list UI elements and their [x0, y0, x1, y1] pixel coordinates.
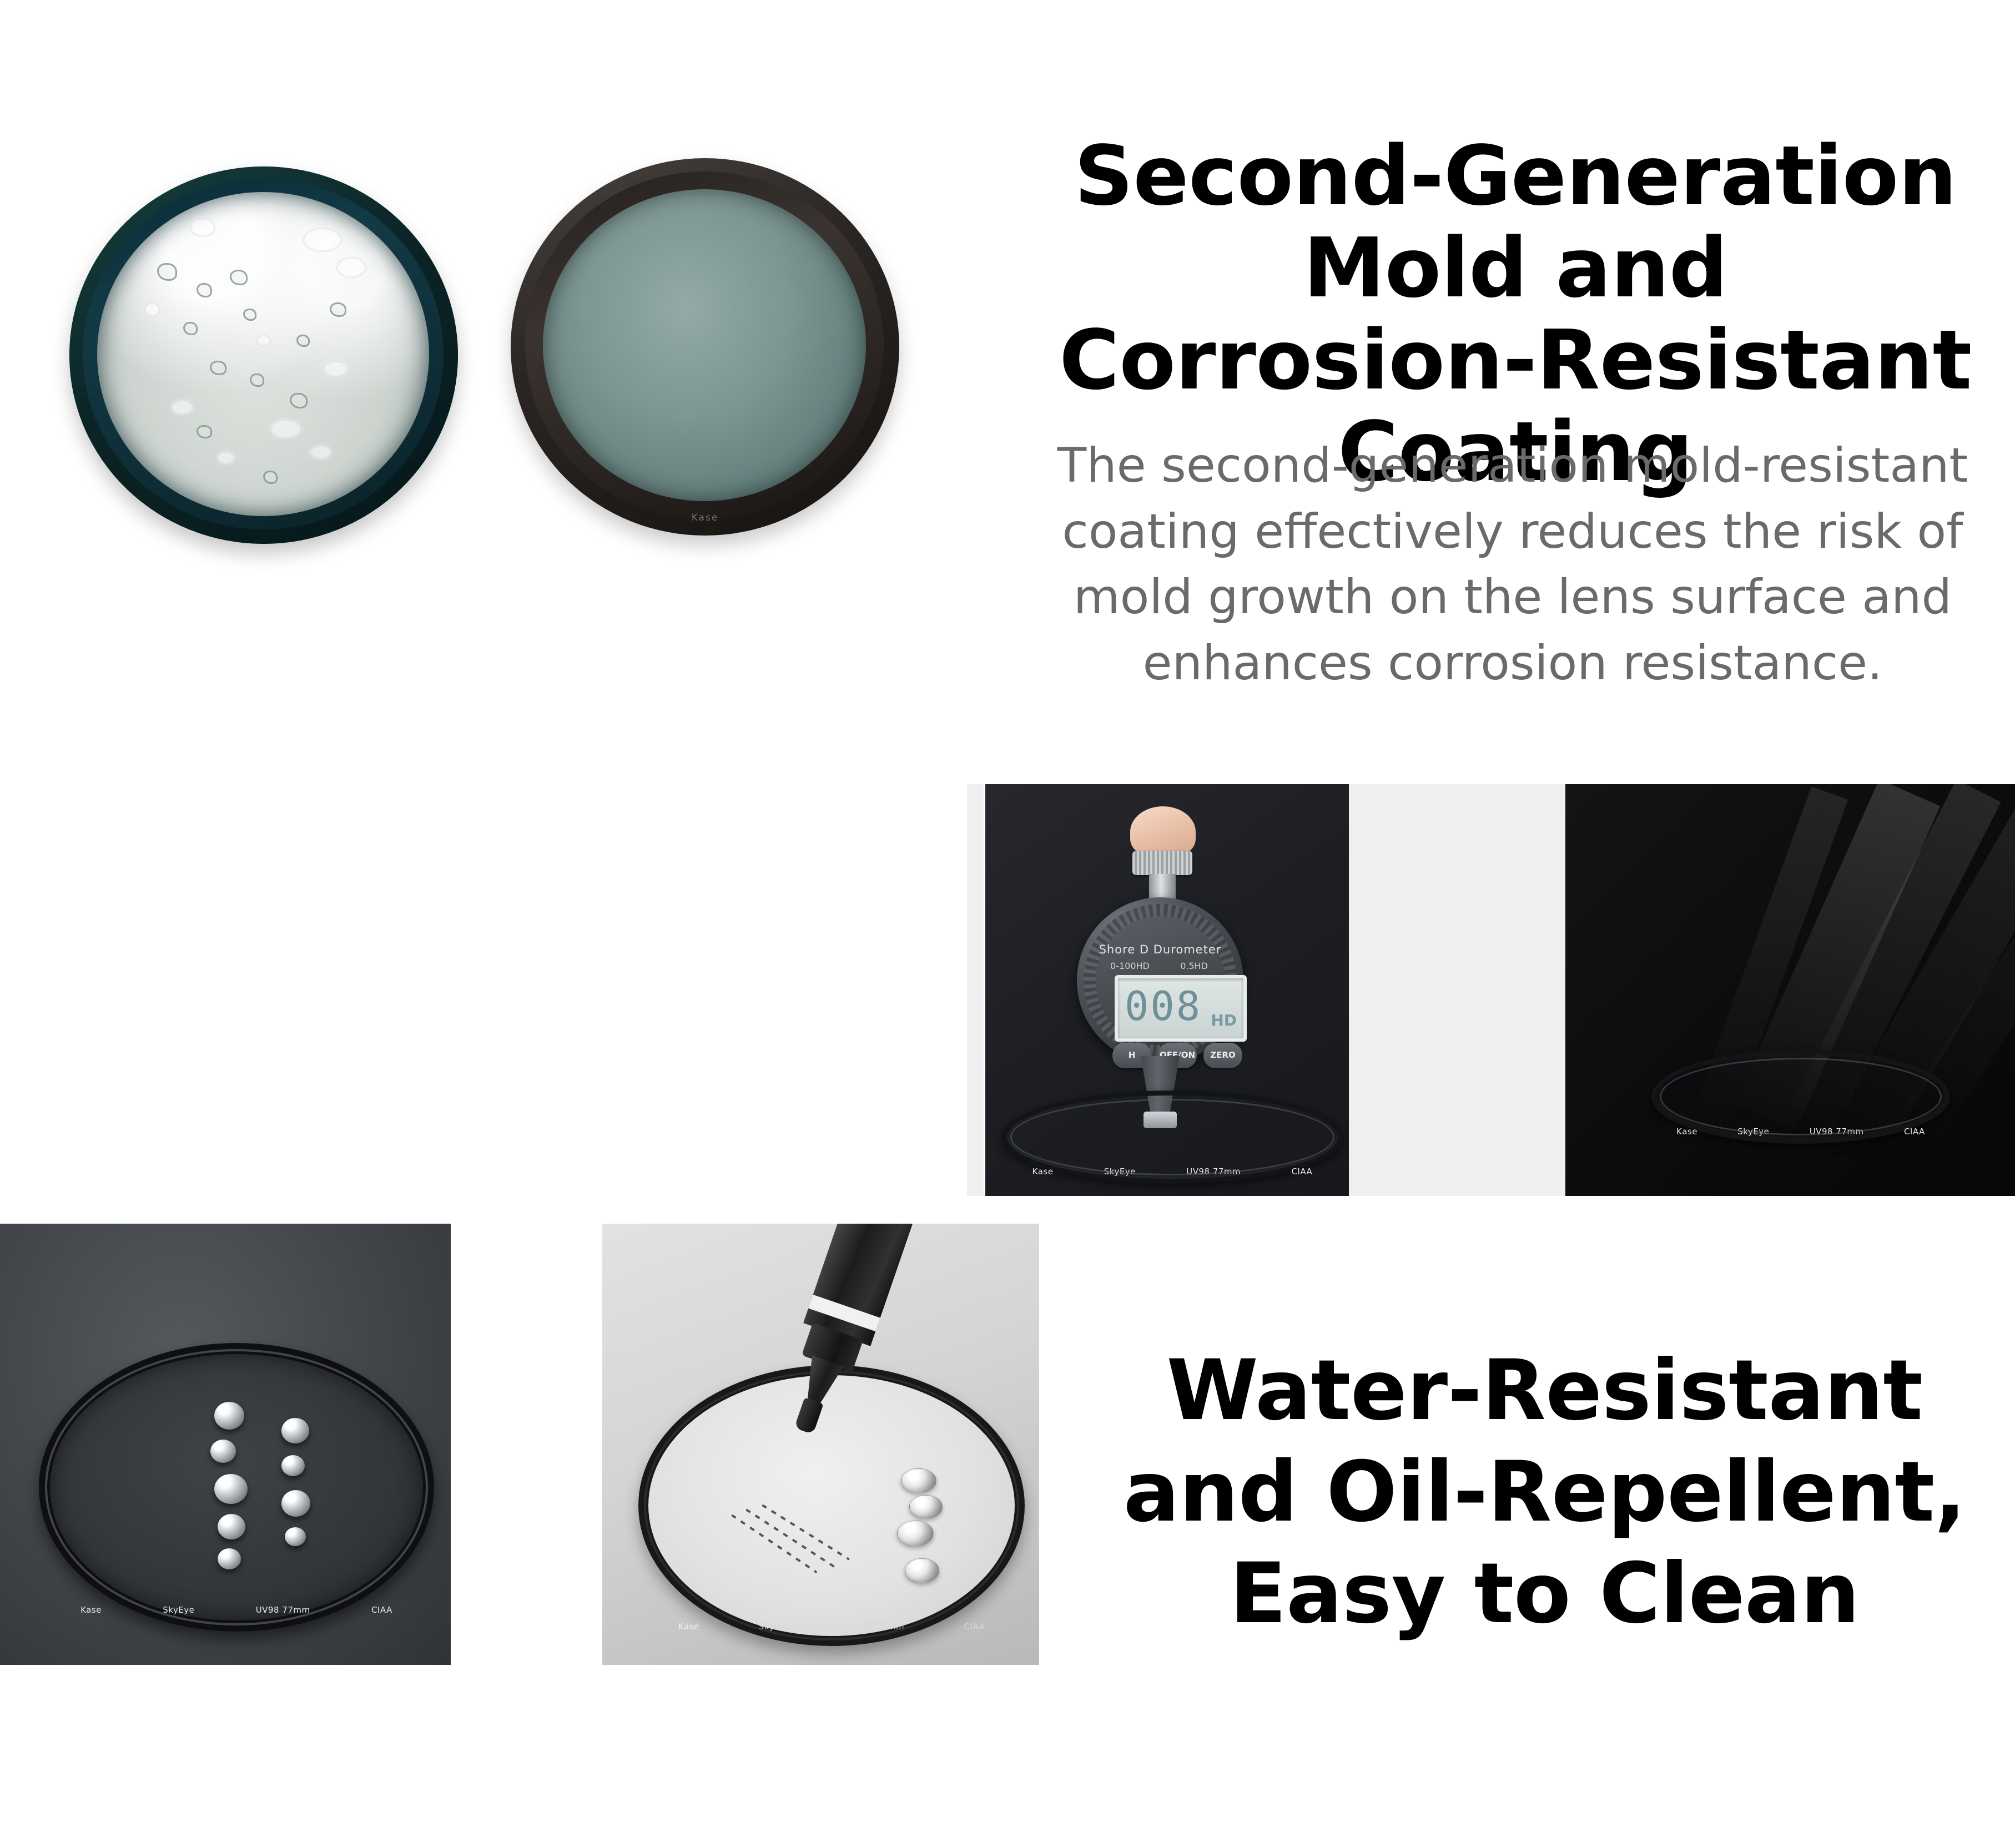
clean-glass-surface — [543, 189, 866, 501]
ink-droplet — [897, 1521, 934, 1546]
water-bead — [214, 1474, 248, 1504]
durometer-hardness-test: Shore D Durometer 0-100HD 0.5HD 008 HD H… — [985, 784, 1349, 1196]
gauge-body: Shore D Durometer 0-100HD 0.5HD 008 HD H… — [1077, 897, 1243, 1064]
water-bead — [218, 1548, 241, 1569]
moldy-filter-image — [69, 166, 458, 544]
ring-series: SkyEye — [163, 1605, 194, 1615]
filter-ring-under-test: Kase SkyEye UV98 77mm CIAA — [1002, 1090, 1343, 1184]
ink-droplet — [909, 1495, 943, 1518]
ring-series: SkyEye — [759, 1622, 790, 1632]
water-bead-test: Kase SkyEye UV98 77mm CIAA — [0, 1224, 451, 1665]
filter-ring-brand: Kase — [511, 512, 899, 523]
durometer-reading-value: 008 — [1125, 986, 1202, 1026]
ring-mark: CIAA — [964, 1622, 985, 1632]
ring-model: UV98 77mm — [850, 1622, 904, 1632]
gauge-face: Shore D Durometer 0-100HD 0.5HD 008 HD H… — [1096, 916, 1225, 1045]
mold-section-body: The second-generation mold-resistant coa… — [1044, 433, 1982, 696]
water-bead — [214, 1402, 244, 1430]
ink-droplet — [905, 1558, 939, 1583]
mold-comparison-photo: Kase — [33, 67, 999, 721]
ring-model: UV98 77mm — [1186, 1167, 1241, 1177]
ink-stroke — [731, 1514, 818, 1573]
ink-stroke — [762, 1504, 850, 1560]
filter-ring-under-beams: Kase SkyEye UV98 77mm CIAA — [1651, 1049, 1950, 1144]
ring-model: UV98 77mm — [256, 1605, 310, 1615]
filter-ring-engraving: Kase SkyEye UV98 77mm CIAA — [648, 1622, 1015, 1632]
ring-mark: CIAA — [371, 1605, 392, 1615]
shore-d-durometer: Shore D Durometer 0-100HD 0.5HD 008 HD H… — [1077, 835, 1243, 1124]
water-bead — [281, 1490, 310, 1517]
ring-brand: Kase — [80, 1605, 102, 1615]
ring-brand: Kase — [678, 1622, 699, 1632]
ring-mark: CIAA — [1904, 1127, 1925, 1137]
filter-ring-engraving: Kase SkyEye UV98 77mm CIAA — [50, 1605, 423, 1615]
durometer-lcd-display: 008 HD — [1115, 975, 1247, 1042]
water-bead — [210, 1440, 236, 1463]
clean-filter-image: Kase — [511, 158, 899, 536]
ring-series: SkyEye — [1104, 1167, 1136, 1177]
durometer-range-label: 0-100HD — [1110, 961, 1150, 971]
water-bead — [285, 1527, 306, 1546]
gauge-stem — [1149, 874, 1176, 901]
mold-growth-overlay — [97, 192, 429, 516]
water-bead — [218, 1514, 245, 1539]
water-bead — [281, 1418, 309, 1443]
marker-nib — [794, 1397, 824, 1435]
ring-mark: CIAA — [1291, 1167, 1312, 1177]
filter-with-water-beads: Kase SkyEye UV98 77mm CIAA — [39, 1343, 434, 1632]
reflection-beam-test: Kase SkyEye UV98 77mm CIAA — [1565, 784, 2015, 1196]
durometer-resolution-label: 0.5HD — [1180, 961, 1208, 971]
finger — [1130, 806, 1196, 857]
durometer-zero-button[interactable]: ZERO — [1203, 1043, 1242, 1068]
panel-left-margin-strip — [967, 784, 984, 1196]
ink-stroke — [745, 1508, 838, 1569]
filter-ring-engraving: Kase SkyEye UV98 77mm CIAA — [1007, 1167, 1338, 1177]
panel-divider-gap — [1349, 784, 1565, 1196]
ring-brand: Kase — [1676, 1127, 1697, 1137]
ring-brand: Kase — [1032, 1167, 1054, 1177]
ink-droplet — [901, 1468, 936, 1493]
ring-model: UV98 77mm — [1810, 1127, 1864, 1137]
knurled-cap — [1132, 851, 1192, 875]
ring-series: SkyEye — [1737, 1127, 1769, 1137]
durometer-reading-unit: HD — [1211, 1011, 1237, 1029]
filter-ring-engraving: Kase SkyEye UV98 77mm CIAA — [1656, 1127, 1945, 1137]
repellent-section-heading: Water-Resistant and Oil-Repellent, Easy … — [1082, 1340, 2007, 1645]
water-bead — [281, 1455, 305, 1476]
durometer-brand-label: Shore D Durometer — [1096, 943, 1225, 956]
marker-ink-test: Kase SkyEye UV98 77mm CIAA — [602, 1224, 1039, 1665]
